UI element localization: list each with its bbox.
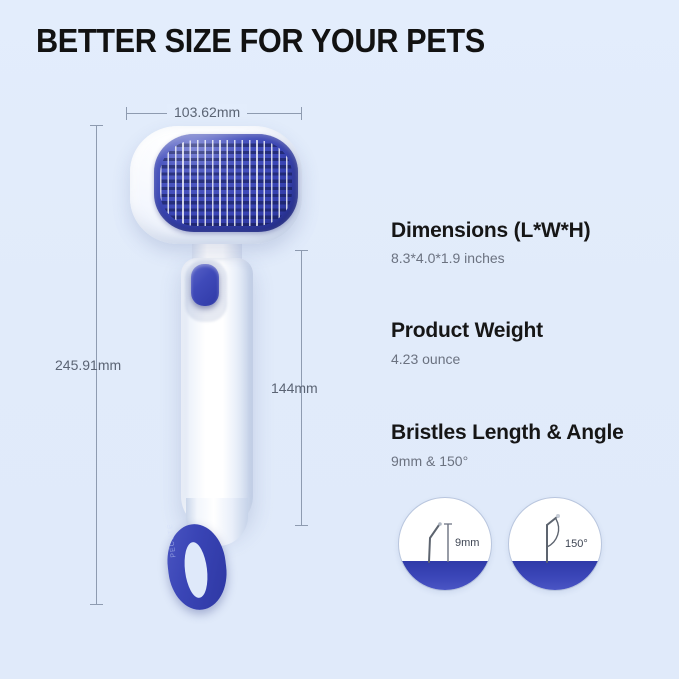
spec-value-product-weight: 4.23 ounce bbox=[391, 351, 460, 367]
spec-heading-product-weight: Product Weight bbox=[391, 319, 543, 343]
width-dimension-cap-right bbox=[301, 107, 302, 120]
brand-embossed-text: PECUTE bbox=[163, 488, 177, 558]
self-clean-button bbox=[191, 264, 219, 306]
bristle-angle-label: 150° bbox=[565, 538, 588, 550]
brush-bristle-pad bbox=[154, 134, 298, 232]
spec-value-dimensions: 8.3*4.0*1.9 inches bbox=[391, 250, 505, 266]
product-image-pet-grooming-brush: PECUTE bbox=[118, 126, 314, 606]
total-height-cap-bottom bbox=[90, 604, 103, 605]
width-dimension-label: 103.62mm bbox=[167, 104, 247, 120]
spec-heading-bristles: Bristles Length & Angle bbox=[391, 421, 624, 445]
bristle-length-diagram: 9mm bbox=[398, 497, 492, 591]
brush-head-shell bbox=[130, 126, 302, 244]
bristle-angle-diagram: 150° bbox=[508, 497, 602, 591]
total-height-label: 245.91mm bbox=[55, 357, 121, 373]
product-infographic: BETTER SIZE FOR YOUR PETS 103.62mm 245.9… bbox=[0, 0, 679, 679]
page-title: BETTER SIZE FOR YOUR PETS bbox=[36, 22, 485, 60]
spec-value-bristles: 9mm & 150° bbox=[391, 453, 468, 469]
spec-heading-dimensions: Dimensions (L*W*H) bbox=[391, 219, 590, 243]
bristle-length-label: 9mm bbox=[455, 537, 479, 549]
bristle-texture bbox=[160, 140, 292, 226]
hanging-loop: PECUTE bbox=[168, 524, 226, 610]
